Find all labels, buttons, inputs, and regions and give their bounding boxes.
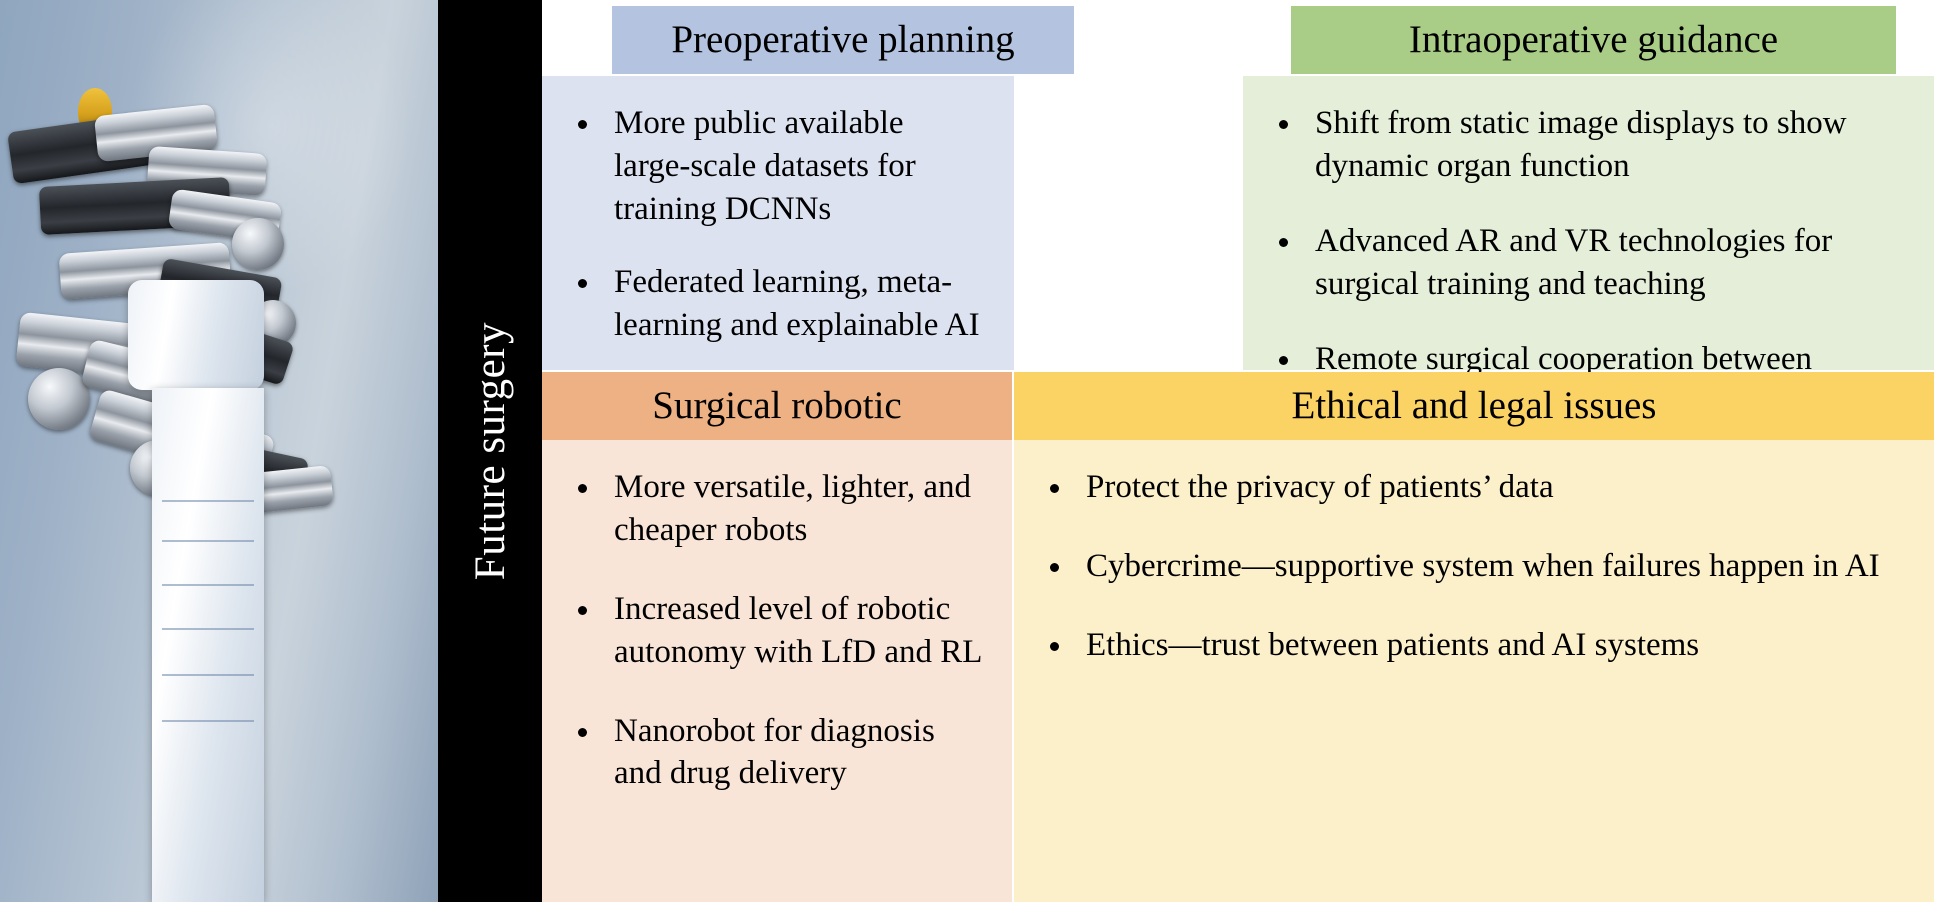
gauze-strip: [152, 388, 264, 902]
bullet-dot-icon: [578, 120, 587, 129]
gauze-roll: [128, 280, 264, 390]
list-item-label: More public available large-scale datase…: [614, 105, 916, 227]
list-item: Shift from static image displays to show…: [1265, 102, 1908, 188]
list-item-label: Ethics—trust between patients and AI sys…: [1086, 627, 1699, 663]
list-item: Nanorobot for diagnosis and drug deliver…: [564, 710, 986, 796]
list-item-label: Shift from static image displays to show…: [1315, 105, 1847, 184]
quadrant-grid: Preoperative planning More public availa…: [542, 0, 1934, 902]
list-item: More public available large-scale datase…: [564, 102, 988, 231]
bullet-dot-icon: [1279, 238, 1288, 247]
header-label: Intraoperative guidance: [1409, 20, 1778, 61]
bullet-dot-icon: [1050, 642, 1059, 651]
surgical-robot-photo: [0, 0, 438, 902]
header-label: Surgical robotic: [652, 386, 901, 427]
bullet-dot-icon: [578, 728, 587, 737]
list-item-label: Increased level of robotic autonomy with…: [614, 591, 982, 670]
bullet-dot-icon: [578, 279, 587, 288]
list-item: Advanced AR and VR technologies for surg…: [1265, 220, 1908, 306]
bullet-dot-icon: [1050, 563, 1059, 572]
panel-ethical-and-legal-issues: Protect the privacy of patients’ data Cy…: [1014, 440, 1934, 902]
bullet-list-ethical-and-legal-issues: Protect the privacy of patients’ data Cy…: [1036, 466, 1908, 667]
list-item: More versatile, lighter, and cheaper rob…: [564, 466, 986, 552]
bullet-dot-icon: [578, 484, 587, 493]
header-ethical-and-legal-issues: Ethical and legal issues: [1014, 372, 1934, 440]
bullet-dot-icon: [578, 606, 587, 615]
panel-preoperative-planning: More public available large-scale datase…: [542, 76, 1014, 370]
list-item: Cybercrime—supportive system when failur…: [1036, 545, 1908, 588]
list-item-label: Federated learning, meta-learning and ex…: [614, 264, 980, 343]
spine-label: Future surgery: [469, 322, 512, 580]
list-item-label: Cybercrime—supportive system when failur…: [1086, 548, 1880, 584]
bullet-dot-icon: [1050, 484, 1059, 493]
bullet-dot-icon: [1279, 356, 1288, 365]
bullet-list-surgical-robotic: More versatile, lighter, and cheaper rob…: [564, 466, 986, 795]
list-item-label: More versatile, lighter, and cheaper rob…: [614, 469, 971, 548]
panel-intraoperative-guidance: Shift from static image displays to show…: [1243, 76, 1934, 370]
list-item-label: Protect the privacy of patients’ data: [1086, 469, 1554, 505]
header-label: Preoperative planning: [671, 20, 1014, 61]
header-label: Ethical and legal issues: [1292, 386, 1657, 427]
list-item-label: Advanced AR and VR technologies for surg…: [1315, 223, 1832, 302]
header-intraoperative-guidance: Intraoperative guidance: [1291, 6, 1896, 74]
bullet-dot-icon: [1279, 120, 1288, 129]
list-item: Protect the privacy of patients’ data: [1036, 466, 1908, 509]
list-item-label: Nanorobot for diagnosis and drug deliver…: [614, 713, 935, 792]
panel-surgical-robotic: More versatile, lighter, and cheaper rob…: [542, 440, 1012, 902]
list-item: Ethics—trust between patients and AI sys…: [1036, 624, 1908, 667]
figure-canvas: Future surgery Preoperative planning Mor…: [0, 0, 1934, 902]
list-item: Increased level of robotic autonomy with…: [564, 588, 986, 674]
future-surgery-spine: Future surgery: [438, 0, 542, 902]
header-preoperative-planning: Preoperative planning: [612, 6, 1074, 74]
header-surgical-robotic: Surgical robotic: [542, 372, 1012, 440]
list-item: Federated learning, meta-learning and ex…: [564, 261, 988, 347]
